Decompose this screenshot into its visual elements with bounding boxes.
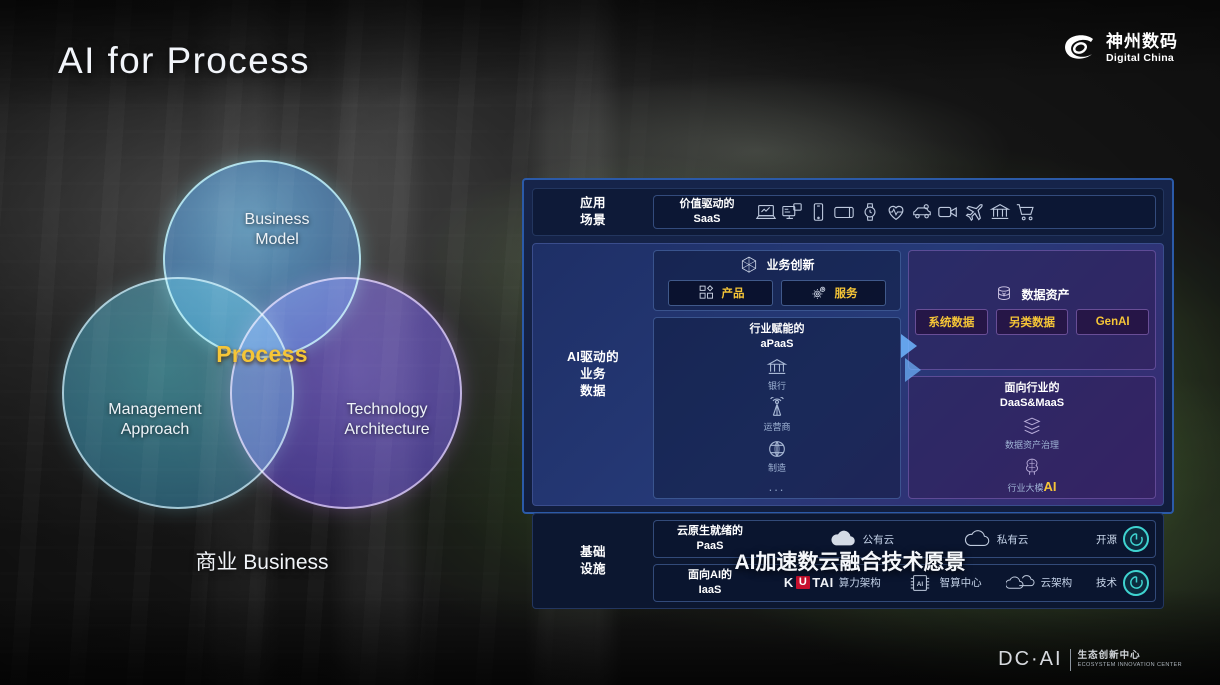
mini-bank: 银行 bbox=[757, 356, 797, 392]
desktop-monitor-icon bbox=[780, 201, 804, 223]
infra-label-ai-compute-center: 智算中心 bbox=[940, 575, 982, 590]
mini-label-industry-llm: 行业大模AI bbox=[1007, 479, 1056, 494]
label-data-assets: 数据资产 bbox=[1021, 286, 1069, 303]
caption-architecture: AI加速数云融合技术愿景 bbox=[520, 546, 1180, 576]
smartphone-icon bbox=[806, 201, 830, 223]
application-icon-row bbox=[754, 201, 1149, 223]
mini-manufacturing: 制造 bbox=[757, 438, 797, 474]
gear-globe-icon bbox=[766, 438, 788, 460]
card-industry-apaas: 行业赋能的 aPaaS 银行 运营商 制造 bbox=[653, 317, 901, 500]
chip-system-data[interactable]: 系统数据 bbox=[915, 309, 988, 335]
node-label-technology: 技术 bbox=[1096, 575, 1117, 590]
infra-label-private-cloud: 私有云 bbox=[997, 532, 1029, 547]
footer-dc-ai: DC·AI bbox=[998, 648, 1062, 671]
brand-name-cn: 神州数码 bbox=[1106, 33, 1178, 51]
infra-label-public-cloud: 公有云 bbox=[863, 532, 895, 547]
mini-label-data-governance: 数据资产治理 bbox=[1005, 438, 1059, 451]
page-title: AI for Process bbox=[58, 40, 310, 82]
database-yuan-icon bbox=[994, 284, 1014, 304]
column-business-innovation: 业务创新 产品 服务 bbox=[653, 250, 901, 500]
video-camera-icon bbox=[936, 201, 960, 223]
chip-label-genai: GenAI bbox=[1096, 316, 1130, 328]
subhead-data-assets: 数据资产 bbox=[994, 284, 1069, 304]
swirl-logo-icon bbox=[1063, 33, 1097, 63]
ai-band-body: 业务创新 产品 服务 bbox=[653, 250, 1156, 500]
band-label-ai-driven: AI驱动的 业务 数据 bbox=[540, 250, 646, 500]
mini-industry-llm: 行业大模AI bbox=[999, 456, 1065, 494]
architecture-panel: 应用 场景 价值驱动的 SaaS bbox=[522, 178, 1174, 514]
footer-name-en: ECOSYSTEM INNOVATION CENTER bbox=[1078, 662, 1182, 668]
chip-row-data-assets: 系统数据 另类数据 GenAI bbox=[915, 309, 1149, 335]
band-application-scenarios: 应用 场景 价值驱动的 SaaS bbox=[532, 188, 1164, 236]
chip-genai[interactable]: GenAI bbox=[1076, 309, 1149, 335]
kutai-u: U bbox=[796, 576, 810, 589]
heartbeat-icon bbox=[884, 201, 908, 223]
shopping-cart-icon bbox=[1014, 201, 1038, 223]
card-value-driven-saas: 价值驱动的 SaaS bbox=[653, 195, 1156, 229]
caption-business: 商业 Business bbox=[62, 546, 462, 576]
mini-operator: 运营商 bbox=[757, 397, 797, 433]
ai-band-split: 业务创新 产品 服务 bbox=[653, 250, 1156, 500]
bank-icon bbox=[766, 356, 788, 378]
venn-label-technology-architecture: Technology Architecture bbox=[312, 400, 462, 441]
smartwatch-icon bbox=[858, 201, 882, 223]
chip-label-service: 服务 bbox=[835, 285, 858, 301]
column-data-assets: 数据资产 系统数据 另类数据 GenAI bbox=[908, 250, 1156, 500]
footer-name-cn: 生态创新中心 bbox=[1078, 651, 1182, 661]
footer-logo: DC·AI 生态创新中心 ECOSYSTEM INNOVATION CENTER bbox=[998, 648, 1182, 671]
svg-text:AI: AI bbox=[916, 581, 923, 588]
car-icon bbox=[910, 201, 934, 223]
mini-data-governance: 数据资产治理 bbox=[1001, 415, 1063, 451]
chip-row-innovation: 产品 服务 bbox=[660, 280, 894, 306]
venn-circle-technology-architecture bbox=[230, 277, 462, 509]
node-label-open-source: 开源 bbox=[1096, 532, 1117, 547]
venn-diagram: Business Model Management Approach Techn… bbox=[62, 160, 462, 510]
brand-name-en: Digital China bbox=[1106, 53, 1178, 64]
infra-label-cloud-arch: 云架构 bbox=[1041, 575, 1073, 590]
chip-service[interactable]: 服务 bbox=[781, 280, 886, 306]
antenna-icon bbox=[766, 397, 788, 419]
brand-logo: 神州数码 Digital China bbox=[1063, 33, 1178, 64]
card-title-daas-maas: 面向行业的 DaaS&MaaS bbox=[986, 381, 1078, 411]
chip-alternative-data[interactable]: 另类数据 bbox=[996, 309, 1069, 335]
bank-icon bbox=[988, 201, 1012, 223]
data-layers-icon bbox=[1021, 415, 1043, 437]
infra-item-compute-arch: K U TAI 算力架构 bbox=[784, 575, 881, 590]
card-title-apaas: 行业赋能的 aPaaS bbox=[735, 322, 819, 352]
slide-canvas: AI for Process 神州数码 Digital China Busine… bbox=[0, 0, 1220, 685]
laptop-chart-icon bbox=[754, 201, 778, 223]
mini-label-bank: 银行 bbox=[768, 379, 786, 392]
venn-label-process: Process bbox=[192, 340, 332, 369]
kutai-tai: TAI bbox=[812, 575, 833, 590]
chip-label-system-data: 系统数据 bbox=[928, 314, 974, 330]
gears-icon bbox=[810, 284, 829, 301]
chip-label-product: 产品 bbox=[722, 285, 745, 301]
subhead-business-innovation: 业务创新 bbox=[739, 255, 814, 275]
card-title-saas: 价值驱动的 SaaS bbox=[660, 197, 754, 227]
infra-label-compute-arch: 算力架构 bbox=[839, 575, 881, 590]
tablet-icon bbox=[832, 201, 856, 223]
cube-network-icon bbox=[739, 255, 759, 275]
label-business-innovation: 业务创新 bbox=[766, 256, 814, 273]
band-label-application: 应用 场景 bbox=[540, 195, 646, 229]
venn-label-management-approach: Management Approach bbox=[80, 400, 230, 441]
brain-tree-icon bbox=[1021, 456, 1043, 478]
mini-label-manufacturing: 制造 bbox=[768, 461, 786, 474]
venn-label-business-model: Business Model bbox=[222, 210, 332, 251]
card-data-assets: 数据资产 系统数据 另类数据 GenAI bbox=[908, 250, 1156, 370]
chip-label-alternative-data: 另类数据 bbox=[1009, 314, 1055, 330]
footer-divider bbox=[1070, 649, 1071, 671]
kutai-k: K bbox=[784, 575, 794, 590]
kutai-logo: K U TAI bbox=[784, 575, 834, 590]
more-indicator: ... bbox=[765, 479, 790, 494]
chip-product[interactable]: 产品 bbox=[668, 280, 773, 306]
blocks-icon bbox=[697, 284, 716, 301]
band-ai-driven-business-data: AI驱动的 业务 数据 业务创新 bbox=[532, 243, 1164, 507]
card-business-innovation: 业务创新 产品 服务 bbox=[653, 250, 901, 311]
card-daas-maas: 面向行业的 DaaS&MaaS 数据资产治理 行业大模AI bbox=[908, 376, 1156, 500]
mini-label-operator: 运营商 bbox=[763, 420, 790, 433]
airplane-icon bbox=[962, 201, 986, 223]
